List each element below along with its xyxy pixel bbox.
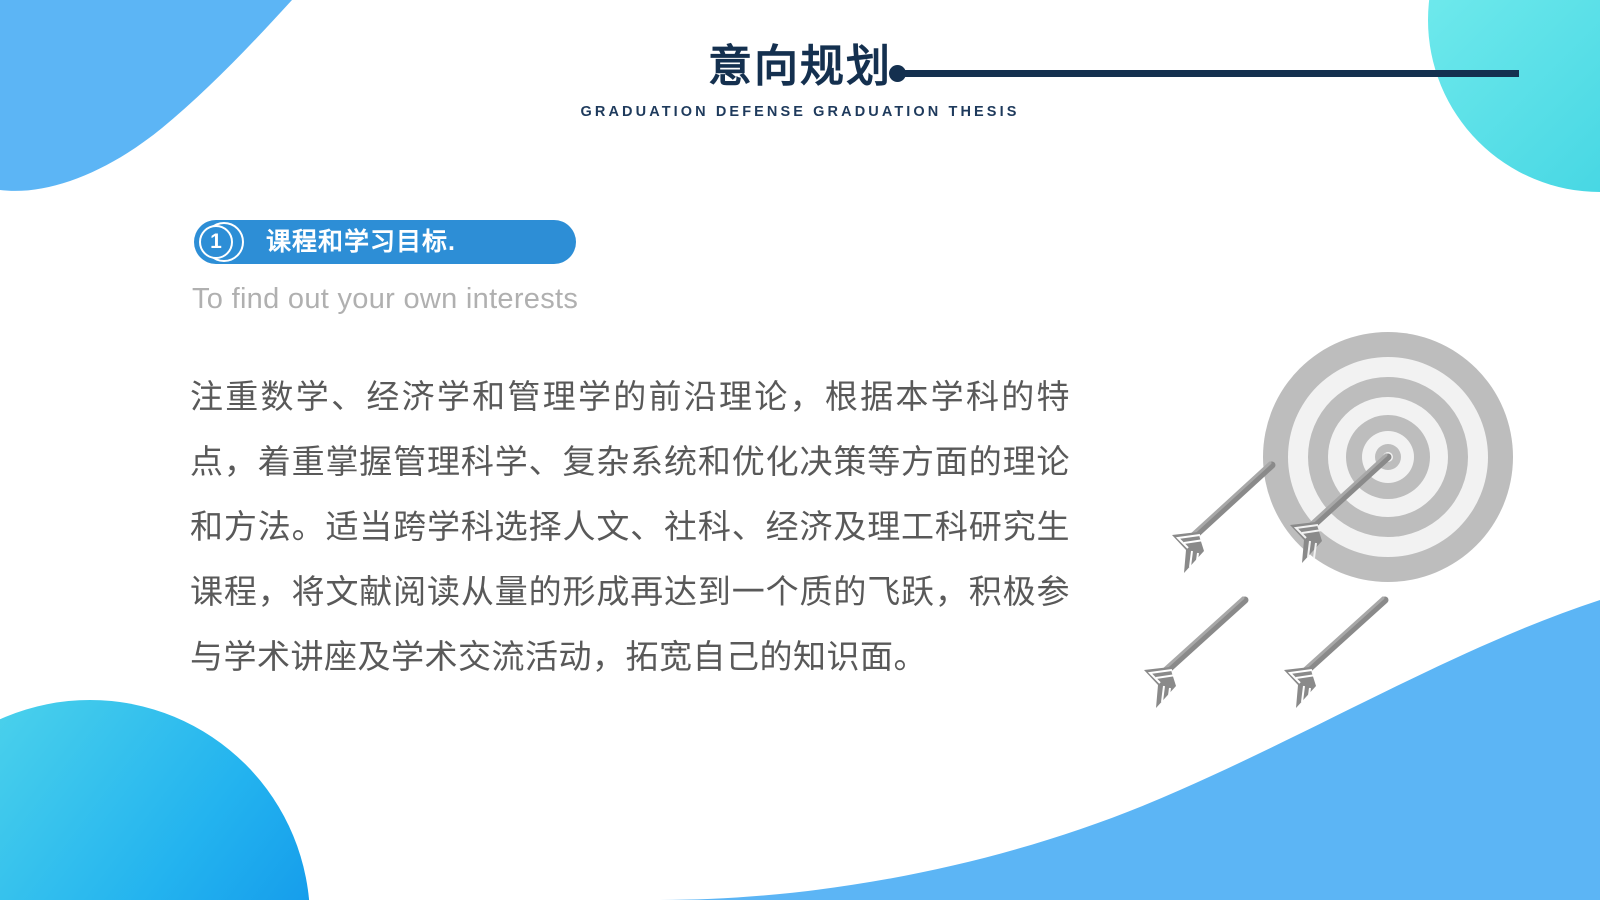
circle-bottom-left xyxy=(0,700,310,900)
badge-number: 1 xyxy=(199,225,233,259)
section-badge[interactable]: 1 课程和学习目标. xyxy=(194,220,576,264)
target-illustration xyxy=(1090,325,1520,715)
arrow-flying-lower-left-icon xyxy=(1144,598,1245,708)
section-lead-english: To find out your own interests xyxy=(192,283,578,316)
slide-header: 意向规划 GRADUATION DEFENSE GRADUATION THESI… xyxy=(0,38,1600,96)
body-paragraph: 注重数学、经济学和管理学的前沿理论，根据本学科的特点，着重掌握管理科学、复杂系统… xyxy=(190,364,1070,689)
circle-top-right xyxy=(1428,0,1600,192)
arrow-flying-upper-left-icon xyxy=(1172,463,1272,573)
badge-number-group: 1 xyxy=(198,221,250,263)
section-title: 课程和学习目标. xyxy=(266,220,456,264)
slide-root: 意向规划 GRADUATION DEFENSE GRADUATION THESI… xyxy=(0,0,1600,900)
arrow-flying-lower-right-icon xyxy=(1284,598,1385,708)
page-subtitle: GRADUATION DEFENSE GRADUATION THESIS xyxy=(0,104,1600,120)
title-row: 意向规划 xyxy=(0,38,1600,96)
page-title: 意向规划 xyxy=(0,38,1600,96)
title-rule-divider xyxy=(903,70,1519,77)
